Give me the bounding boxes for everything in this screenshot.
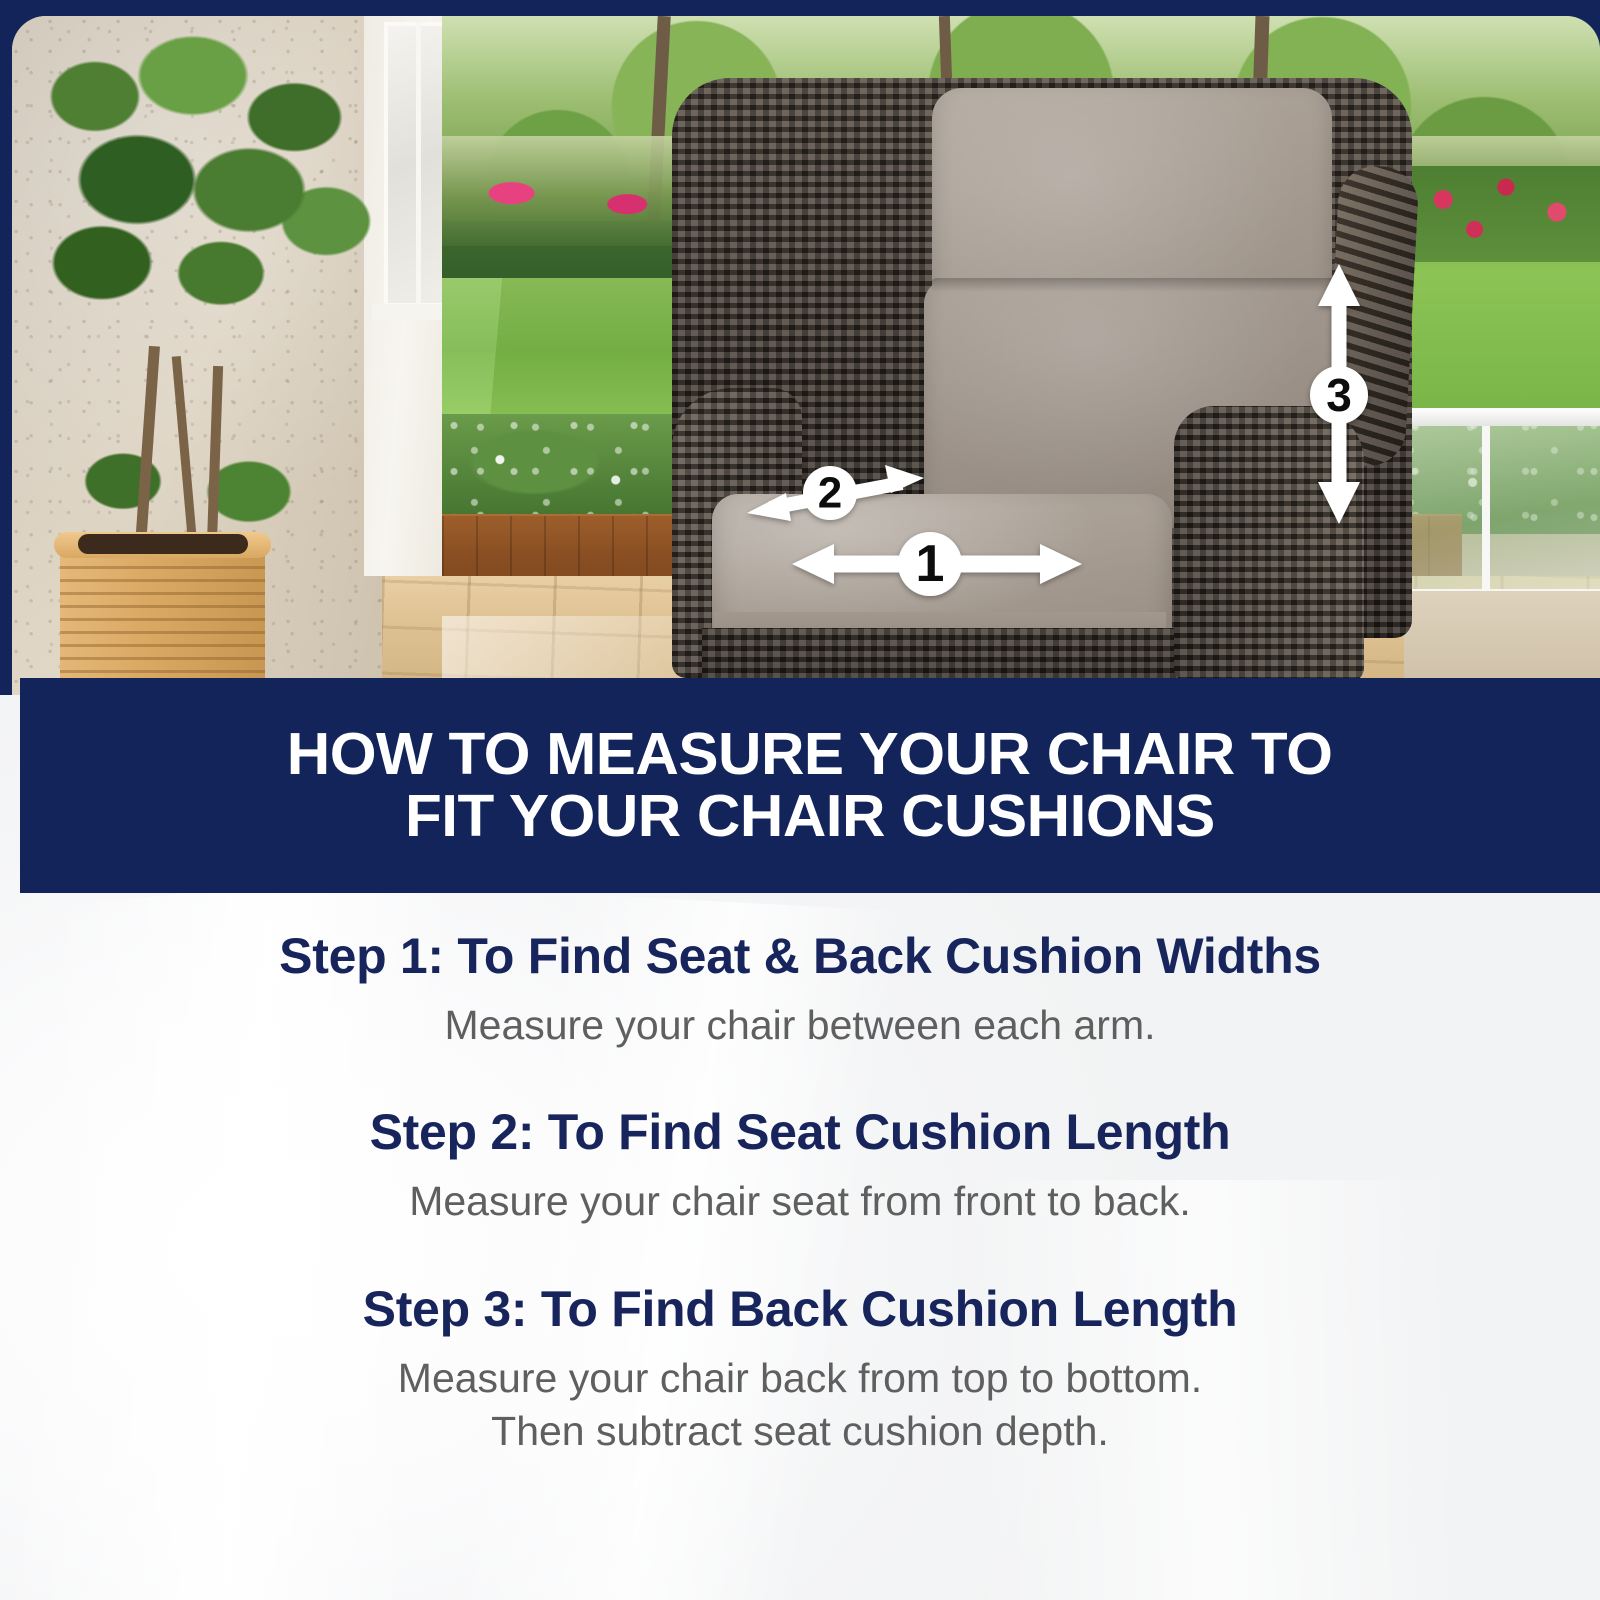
step-1-description: Measure your chair between each arm. — [0, 999, 1600, 1052]
marker-1-label: 1 — [916, 535, 945, 593]
step-3: Step 3: To Find Back Cushion Length Meas… — [0, 1279, 1600, 1459]
measurement-arrows-overlay: 1 2 3 — [12, 16, 1600, 695]
marker-3-label: 3 — [1326, 369, 1352, 421]
step-1-title: Step 1: To Find Seat & Back Cushion Widt… — [0, 926, 1600, 987]
step-2-title: Step 2: To Find Seat Cushion Length — [0, 1102, 1600, 1163]
marker-2-label: 2 — [818, 469, 842, 518]
step-3-title: Step 3: To Find Back Cushion Length — [0, 1279, 1600, 1340]
patio-chair-photo: 1 2 3 — [12, 16, 1600, 695]
banner-title-line-2: FIT YOUR CHAIR CUSHIONS — [405, 786, 1215, 847]
measure-arrow-3: 3 — [1310, 264, 1368, 524]
step-1: Step 1: To Find Seat & Back Cushion Widt… — [0, 926, 1600, 1052]
photo-frame: 1 2 3 — [0, 0, 1600, 695]
measure-arrow-2: 2 — [747, 465, 924, 521]
measure-arrow-1: 1 — [792, 532, 1082, 596]
step-3-description-line-2: Then subtract seat cushion depth. — [0, 1405, 1600, 1458]
step-2-description: Measure your chair seat from front to ba… — [0, 1175, 1600, 1228]
title-banner: HOW TO MEASURE YOUR CHAIR TO FIT YOUR CH… — [20, 678, 1600, 893]
banner-title-line-1: HOW TO MEASURE YOUR CHAIR TO — [287, 724, 1333, 785]
steps-section: Step 1: To Find Seat & Back Cushion Widt… — [0, 900, 1600, 1600]
step-2: Step 2: To Find Seat Cushion Length Meas… — [0, 1102, 1600, 1228]
step-3-description-line-1: Measure your chair back from top to bott… — [0, 1352, 1600, 1405]
infographic-page: 1 2 3 — [0, 0, 1600, 1600]
